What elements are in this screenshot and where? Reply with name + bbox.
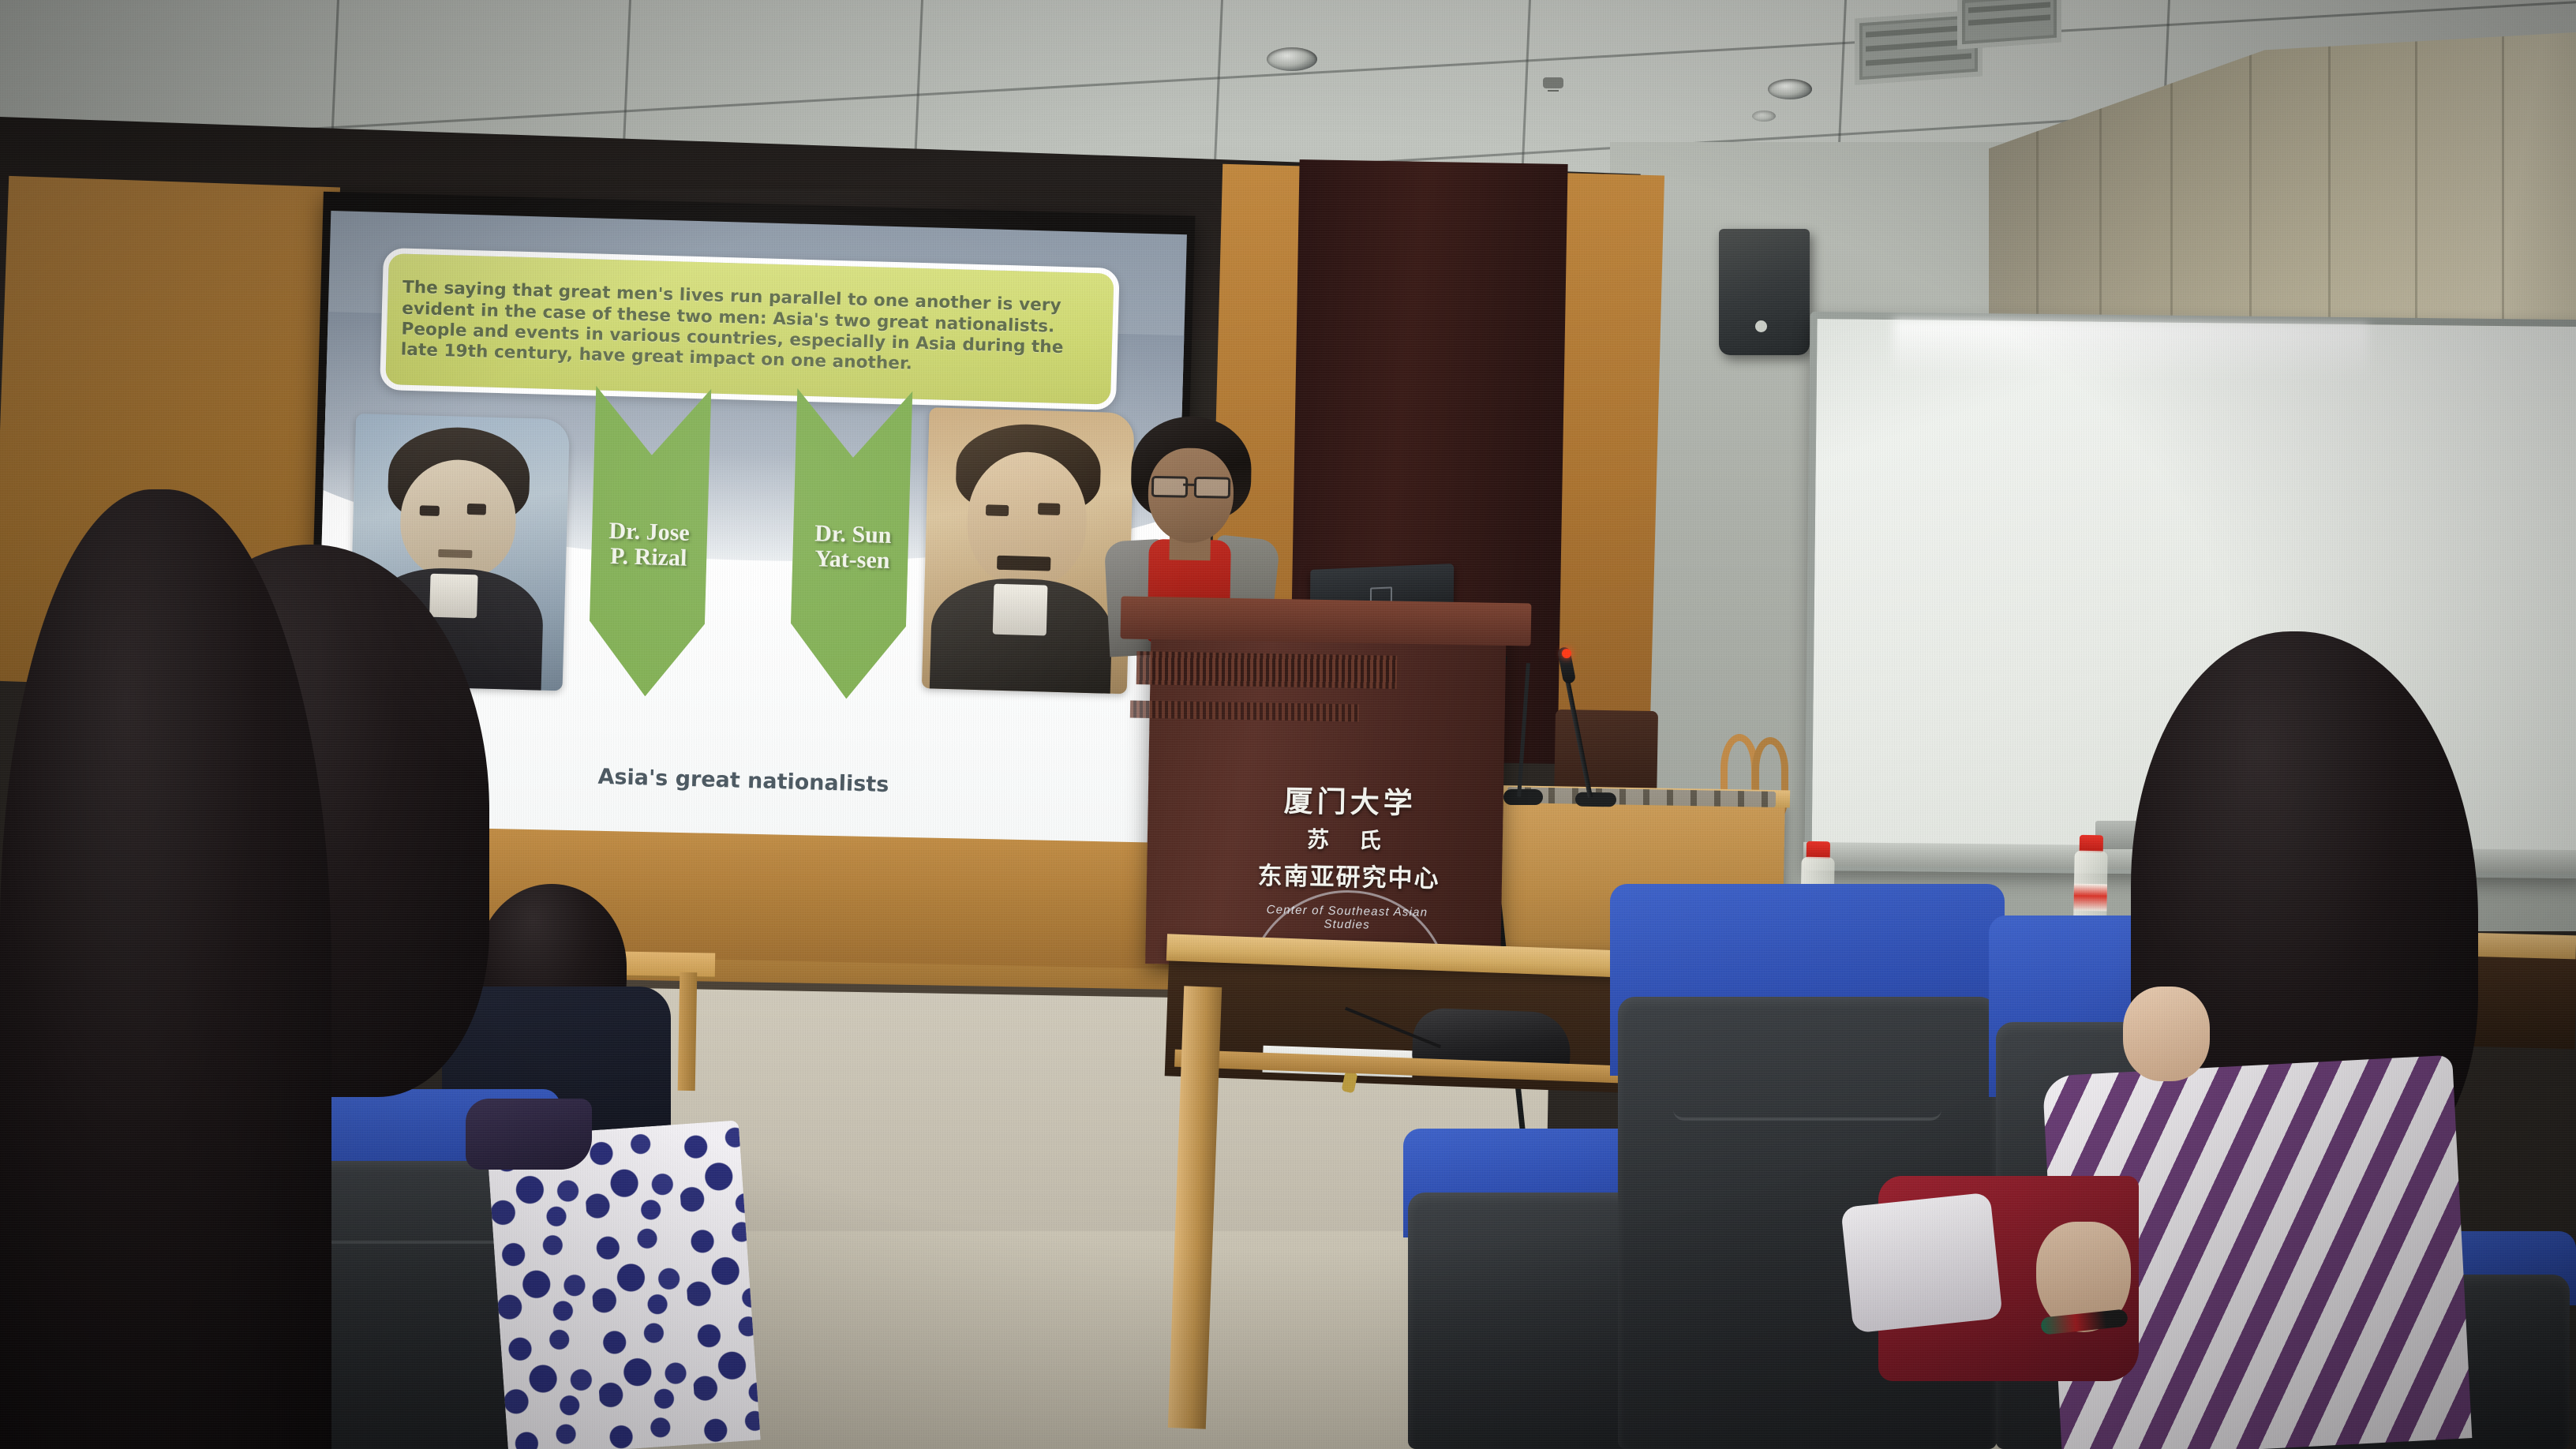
whiteboard-glare xyxy=(1893,320,2368,380)
logo-arc-text: Center of Southeast Asian Studies xyxy=(1248,903,1447,933)
lectern-top xyxy=(1121,596,1532,646)
slide-quote-text: The saying that great men's lives run pa… xyxy=(400,278,1099,380)
attendee-head xyxy=(0,489,331,1449)
attendee-white-fabric xyxy=(1840,1193,2003,1334)
lectern-line-2: 苏 氏 xyxy=(1231,821,1469,856)
lecture-hall-photo: The saying that great men's lives run pa… xyxy=(0,0,2576,1449)
attendee-shoulder xyxy=(466,1099,592,1170)
wall-speaker-icon xyxy=(1719,229,1810,355)
stage-bench-leg xyxy=(678,972,698,1091)
lectern-vent-grille xyxy=(1136,651,1398,689)
ceiling-downlight-icon xyxy=(1768,79,1812,99)
ceiling-downlight-icon xyxy=(1752,110,1776,122)
microphone-base xyxy=(1575,792,1616,807)
slide-quote-box: The saying that great men's lives run pa… xyxy=(380,248,1120,410)
air-vent-icon xyxy=(1957,0,2061,50)
slide-label-sun: Dr. Sun Yat-sen xyxy=(758,519,947,575)
lectern-line-1: 厦门大学 xyxy=(1231,776,1469,822)
sprinkler-head-icon xyxy=(1543,77,1563,88)
lectern-signage: 厦门大学 苏 氏 东南亚研究中心 xyxy=(1230,776,1469,894)
attendee-hand xyxy=(2123,987,2210,1081)
audience-seat[interactable] xyxy=(1403,1129,1640,1449)
moustache xyxy=(997,556,1050,571)
microphone-led-indicator xyxy=(1562,649,1571,658)
slide-label-rizal: Dr. Jose P. Rizal xyxy=(554,517,743,572)
ceiling-downlight-icon xyxy=(1267,47,1317,71)
microphone-base xyxy=(1503,789,1543,805)
eyeglasses-icon xyxy=(1151,476,1230,495)
